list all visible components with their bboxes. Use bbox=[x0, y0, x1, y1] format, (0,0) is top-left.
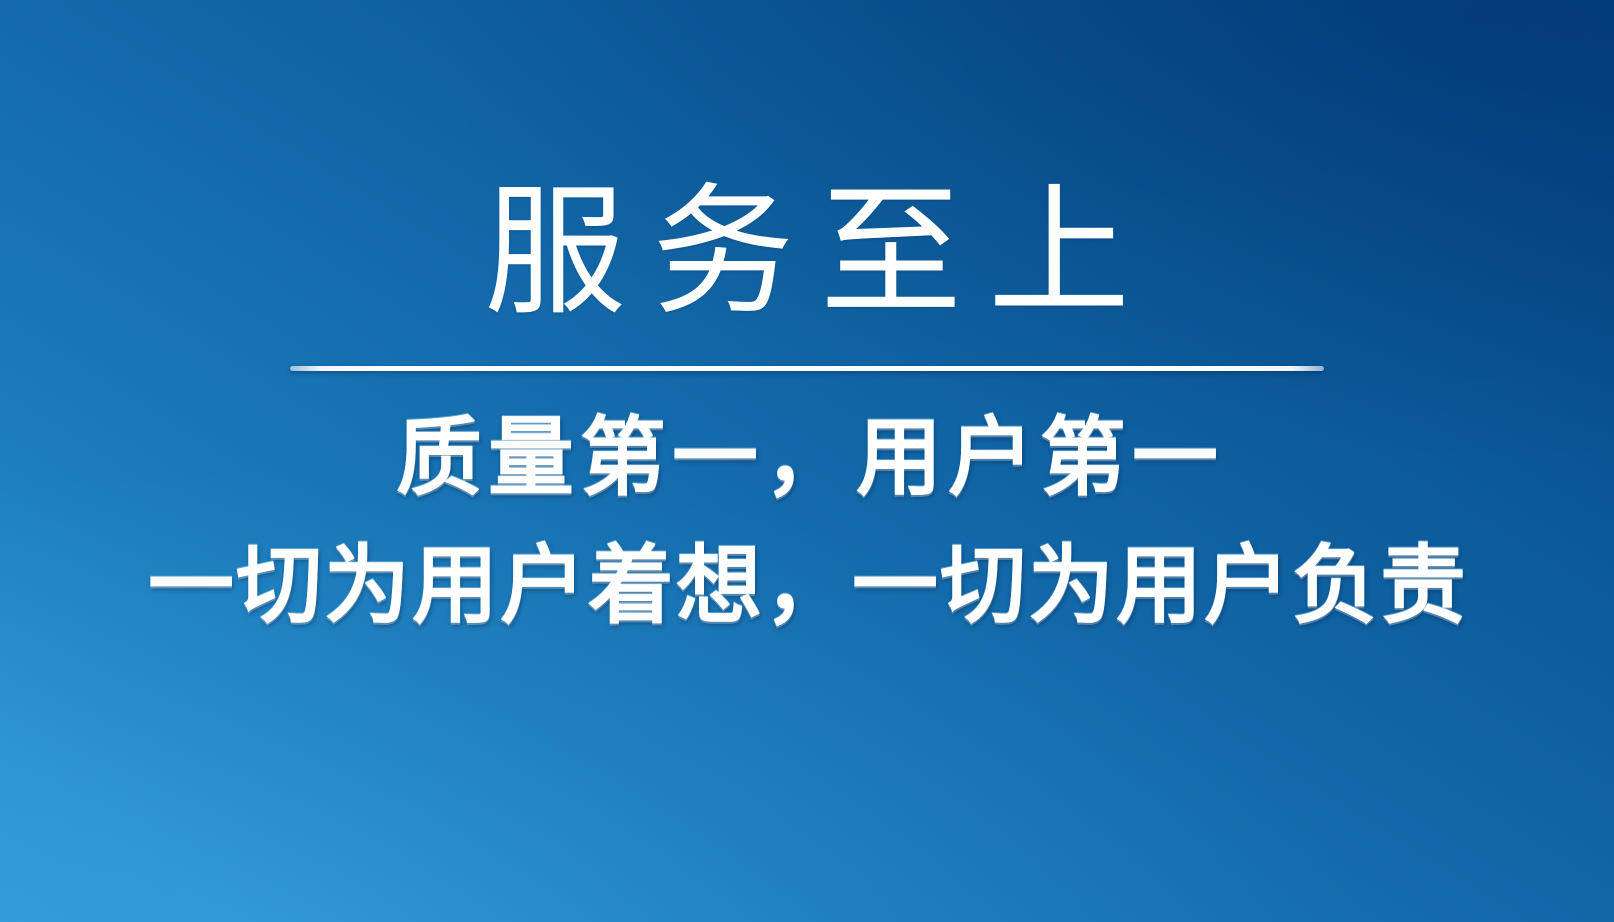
page-title: 服务至上 bbox=[458, 182, 1156, 324]
subtitle-block: 质量第一，用户第一 一切为用户着想，一切为用户负责 bbox=[146, 403, 1468, 641]
slogan-banner: 服务至上 质量第一，用户第一 一切为用户着想，一切为用户负责 bbox=[0, 0, 1614, 922]
subtitle-line-1: 质量第一，用户第一 bbox=[390, 403, 1224, 513]
banner-content-stack: 服务至上 质量第一，用户第一 一切为用户着想，一切为用户负责 bbox=[0, 0, 1614, 922]
subtitle-line-2: 一切为用户着想，一切为用户负责 bbox=[146, 531, 1468, 641]
divider-rule bbox=[290, 366, 1324, 371]
title-divider bbox=[290, 366, 1324, 371]
